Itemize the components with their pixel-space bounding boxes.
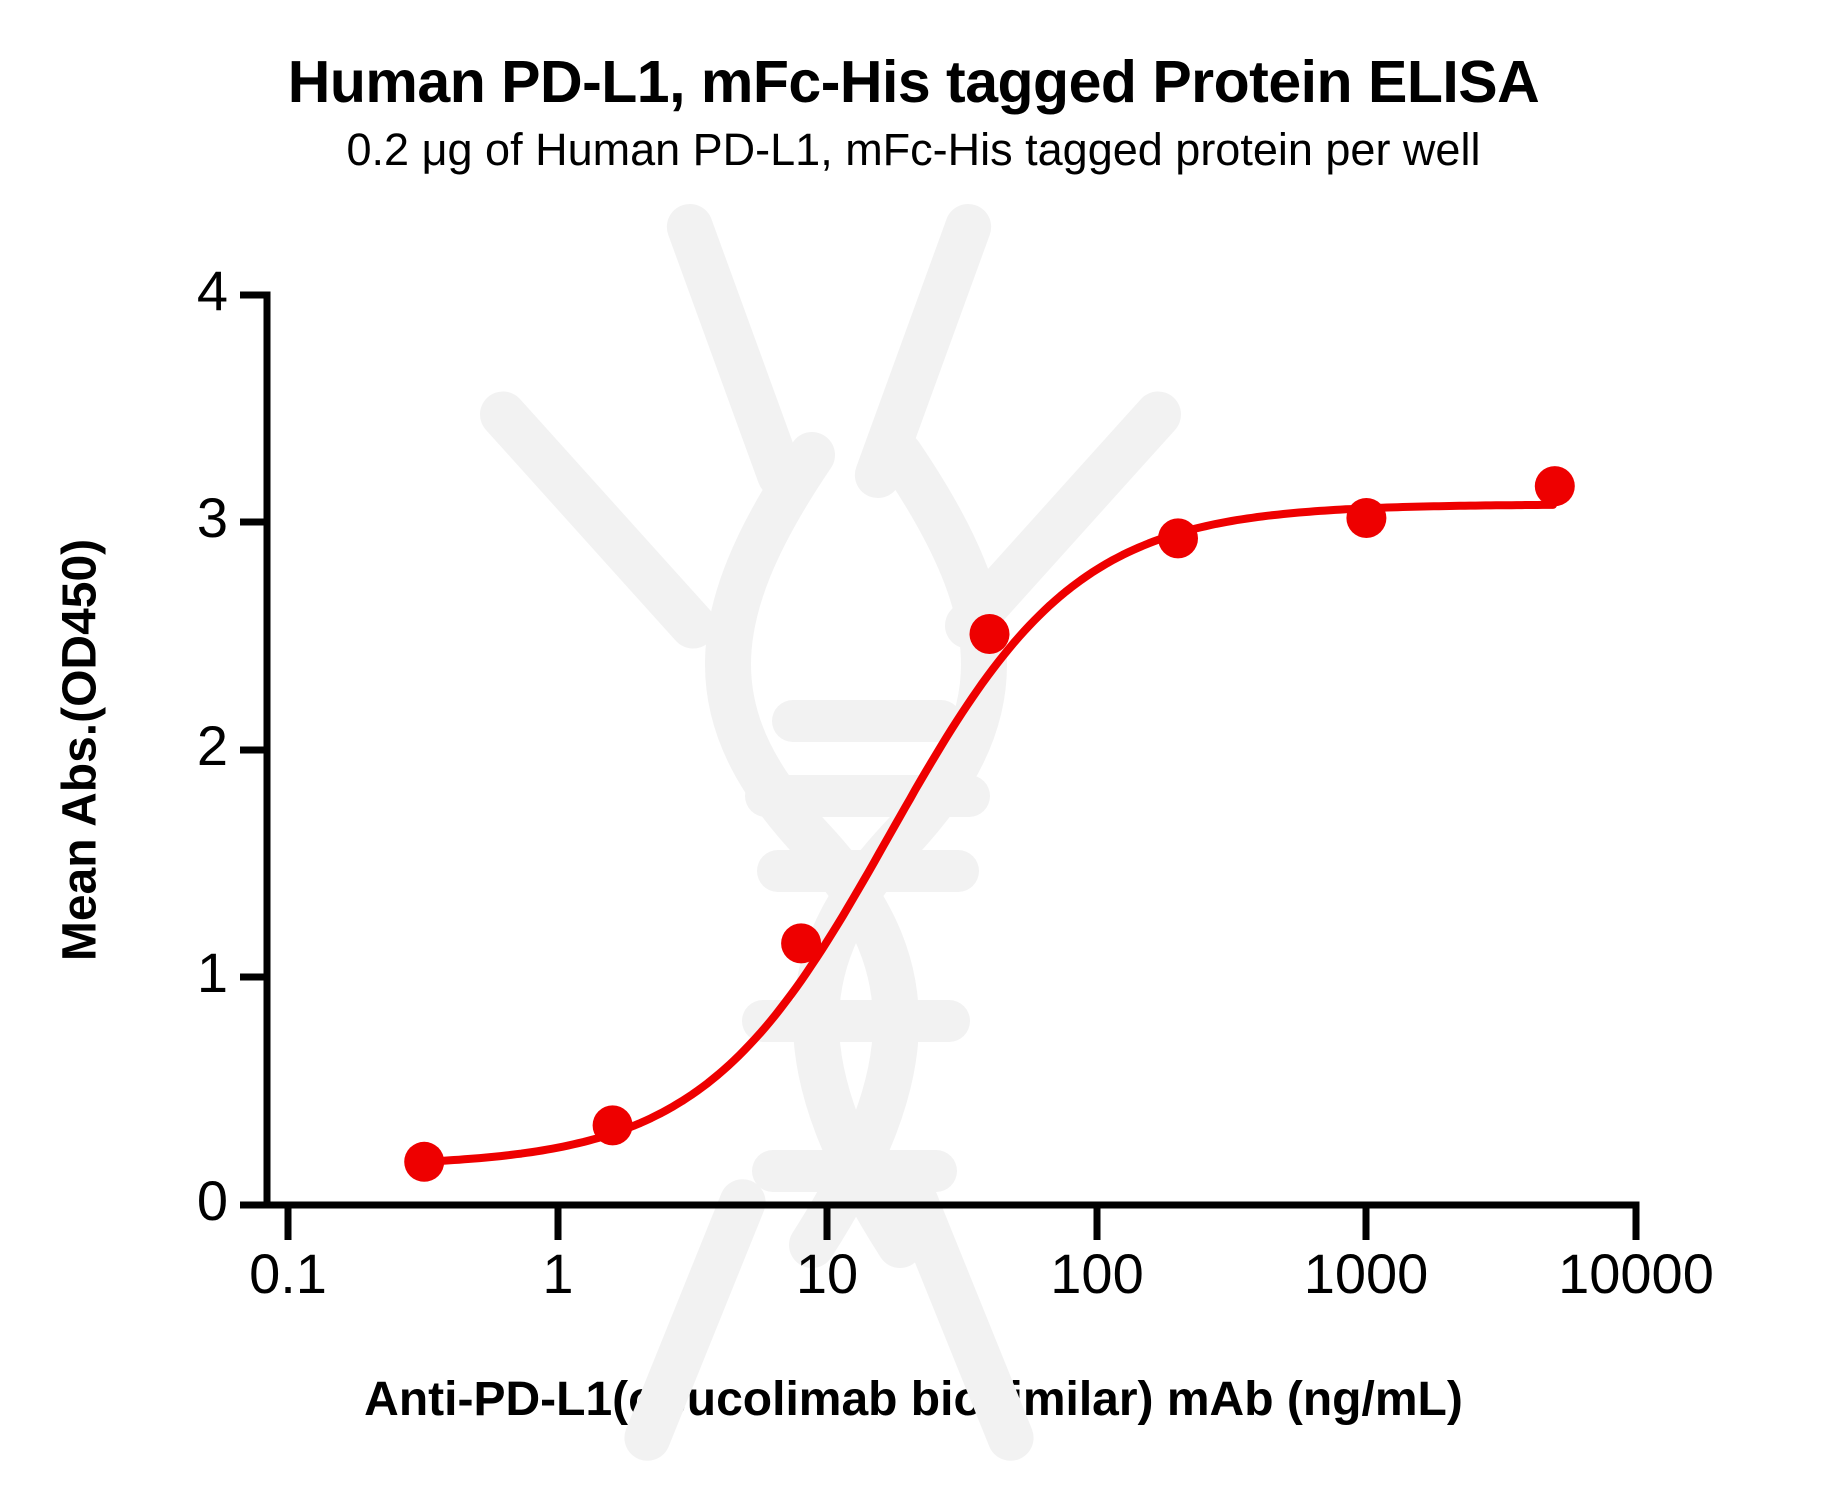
y-tick-label-3: 3: [197, 486, 228, 549]
plot-area: 0 1 2 3 4 0.1 1 10 100 1000 10000: [0, 0, 1827, 1495]
x-tick-label-5: 10000: [1558, 1242, 1714, 1305]
y-axis-ticks: 0 1 2 3 4: [197, 259, 267, 1232]
data-point: [1346, 498, 1386, 538]
x-tick-label-2: 10: [796, 1242, 858, 1305]
data-point: [1158, 518, 1198, 558]
chart-figure: Human PD-L1, mFc-His tagged Protein ELIS…: [0, 0, 1827, 1495]
data-point: [593, 1105, 633, 1145]
y-tick-label-4: 4: [197, 259, 228, 322]
data-point: [404, 1142, 444, 1182]
y-tick-label-1: 1: [197, 941, 228, 1004]
x-tick-label-4: 1000: [1304, 1242, 1429, 1305]
x-tick-label-0: 0.1: [249, 1242, 327, 1305]
x-tick-label-3: 100: [1050, 1242, 1143, 1305]
y-tick-label-2: 2: [197, 714, 228, 777]
x-tick-label-1: 1: [542, 1242, 573, 1305]
y-tick-label-0: 0: [197, 1169, 228, 1232]
data-point: [781, 923, 821, 963]
x-axis-ticks: 0.1 1 10 100 1000 10000: [249, 1205, 1714, 1305]
data-point: [970, 614, 1010, 654]
data-point: [1535, 466, 1575, 506]
